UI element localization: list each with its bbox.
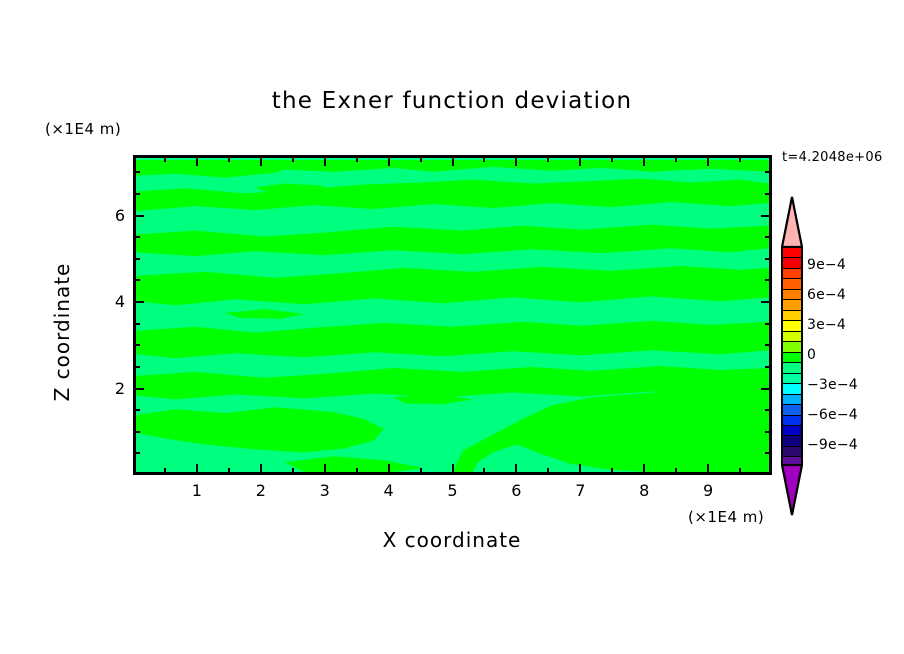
y-tick bbox=[135, 215, 144, 217]
x-tick-label: 6 bbox=[496, 481, 536, 500]
colorbar-tick-label: −9e−4 bbox=[807, 437, 858, 453]
x-tick-top bbox=[643, 157, 645, 166]
colorbar-tick-label: 3e−4 bbox=[807, 317, 846, 333]
page-title: the Exner function deviation bbox=[0, 88, 904, 114]
colorbar-segment bbox=[783, 258, 801, 268]
x-tick-top bbox=[483, 157, 485, 162]
colorbar-tick-label: 6e−4 bbox=[807, 287, 846, 303]
x-tick bbox=[388, 464, 390, 473]
y-tick-right bbox=[765, 409, 770, 411]
y-tick-right bbox=[765, 258, 770, 260]
colorbar-over-arrow bbox=[781, 196, 803, 248]
colorbar-segment bbox=[783, 374, 801, 384]
y-tick-right bbox=[765, 323, 770, 325]
x-tick bbox=[228, 468, 230, 473]
x-axis-unit-label: (×1E4 m) bbox=[688, 508, 764, 526]
colorbar-segment bbox=[783, 353, 801, 363]
y-tick bbox=[135, 323, 140, 325]
colorbar-segment bbox=[783, 269, 801, 279]
timestamp-label: t=4.2048e+06 bbox=[782, 150, 883, 165]
x-tick bbox=[324, 464, 326, 473]
x-tick-label: 2 bbox=[241, 481, 281, 500]
y-tick-right bbox=[765, 171, 770, 173]
x-tick-top bbox=[356, 157, 358, 162]
x-tick bbox=[643, 464, 645, 473]
colorbar-segment bbox=[783, 395, 801, 405]
x-tick-label: 9 bbox=[688, 481, 728, 500]
x-tick-top bbox=[579, 157, 581, 166]
y-tick-right bbox=[765, 366, 770, 368]
y-axis-unit-label: (×1E4 m) bbox=[45, 120, 121, 138]
y-tick bbox=[135, 236, 140, 238]
y-tick-label: 2 bbox=[103, 379, 125, 398]
x-tick bbox=[579, 464, 581, 473]
x-tick bbox=[611, 468, 613, 473]
x-tick bbox=[196, 464, 198, 473]
y-tick bbox=[135, 344, 140, 346]
colorbar-segment bbox=[783, 416, 801, 426]
colorbar-under-arrow bbox=[781, 464, 803, 516]
x-tick-top bbox=[420, 157, 422, 162]
y-tick-right bbox=[765, 431, 770, 433]
x-tick bbox=[356, 468, 358, 473]
colorbar-tick-label: 0 bbox=[807, 347, 816, 363]
x-tick bbox=[515, 464, 517, 473]
colorbar-segment bbox=[783, 384, 801, 394]
x-tick-top bbox=[292, 157, 294, 162]
colorbar-tick-label: −3e−4 bbox=[807, 377, 858, 393]
colorbar-segment bbox=[783, 300, 801, 310]
y-tick-label: 4 bbox=[103, 292, 125, 311]
colorbar-segment bbox=[783, 447, 801, 457]
colorbar-segment bbox=[783, 342, 801, 352]
y-tick bbox=[135, 366, 140, 368]
x-tick-label: 4 bbox=[369, 481, 409, 500]
x-tick-top bbox=[388, 157, 390, 166]
y-tick bbox=[135, 193, 140, 195]
x-tick-top bbox=[196, 157, 198, 166]
contour-plot-area bbox=[133, 155, 772, 475]
x-tick-label: 5 bbox=[433, 481, 473, 500]
colorbar-tick-label: −6e−4 bbox=[807, 407, 858, 423]
y-tick bbox=[135, 431, 140, 433]
y-tick-right bbox=[765, 344, 770, 346]
colorbar-tick-label: 9e−4 bbox=[807, 257, 846, 273]
y-tick bbox=[135, 258, 140, 260]
x-tick bbox=[164, 468, 166, 473]
x-tick bbox=[739, 468, 741, 473]
x-tick-top bbox=[707, 157, 709, 166]
x-tick bbox=[420, 468, 422, 473]
x-tick bbox=[452, 464, 454, 473]
y-tick bbox=[135, 279, 140, 281]
x-axis-title: X coordinate bbox=[0, 528, 904, 552]
y-tick bbox=[135, 388, 144, 390]
colorbar-segment bbox=[783, 426, 801, 436]
colorbar-segment bbox=[783, 311, 801, 321]
y-axis-title: Z coordinate bbox=[50, 242, 74, 422]
x-tick-top bbox=[547, 157, 549, 162]
colorbar-segment bbox=[783, 405, 801, 415]
x-tick-top bbox=[228, 157, 230, 162]
x-tick-label: 7 bbox=[560, 481, 600, 500]
y-tick-right bbox=[761, 388, 770, 390]
x-tick-top bbox=[515, 157, 517, 166]
colorbar-segment bbox=[783, 279, 801, 289]
y-tick bbox=[135, 171, 140, 173]
x-tick bbox=[547, 468, 549, 473]
x-tick-top bbox=[452, 157, 454, 166]
x-tick-top bbox=[164, 157, 166, 162]
y-tick-right bbox=[765, 452, 770, 454]
y-tick-right bbox=[765, 279, 770, 281]
colorbar-segment bbox=[783, 248, 801, 258]
x-tick-top bbox=[611, 157, 613, 162]
colorbar-segment bbox=[783, 290, 801, 300]
y-tick bbox=[135, 409, 140, 411]
x-tick bbox=[292, 468, 294, 473]
y-tick-right bbox=[765, 193, 770, 195]
y-tick-right bbox=[761, 301, 770, 303]
x-tick-label: 8 bbox=[624, 481, 664, 500]
x-tick-top bbox=[260, 157, 262, 166]
x-tick-top bbox=[324, 157, 326, 166]
y-tick-right bbox=[765, 236, 770, 238]
colorbar-segment bbox=[783, 363, 801, 373]
x-tick-label: 1 bbox=[177, 481, 217, 500]
colorbar-segment bbox=[783, 436, 801, 446]
colorbar: 9e−46e−43e−40−3e−4−6e−4−9e−4 bbox=[781, 196, 803, 516]
colorbar-segments bbox=[781, 246, 803, 466]
x-tick-top bbox=[739, 157, 741, 162]
contour-field bbox=[136, 158, 769, 472]
x-tick-label: 3 bbox=[305, 481, 345, 500]
colorbar-segment bbox=[783, 332, 801, 342]
colorbar-segment bbox=[783, 321, 801, 331]
x-tick bbox=[260, 464, 262, 473]
x-tick-top bbox=[675, 157, 677, 162]
x-tick bbox=[483, 468, 485, 473]
y-tick bbox=[135, 452, 140, 454]
x-tick bbox=[707, 464, 709, 473]
x-tick bbox=[675, 468, 677, 473]
y-tick bbox=[135, 301, 144, 303]
y-tick-label: 6 bbox=[103, 206, 125, 225]
y-tick-right bbox=[761, 215, 770, 217]
